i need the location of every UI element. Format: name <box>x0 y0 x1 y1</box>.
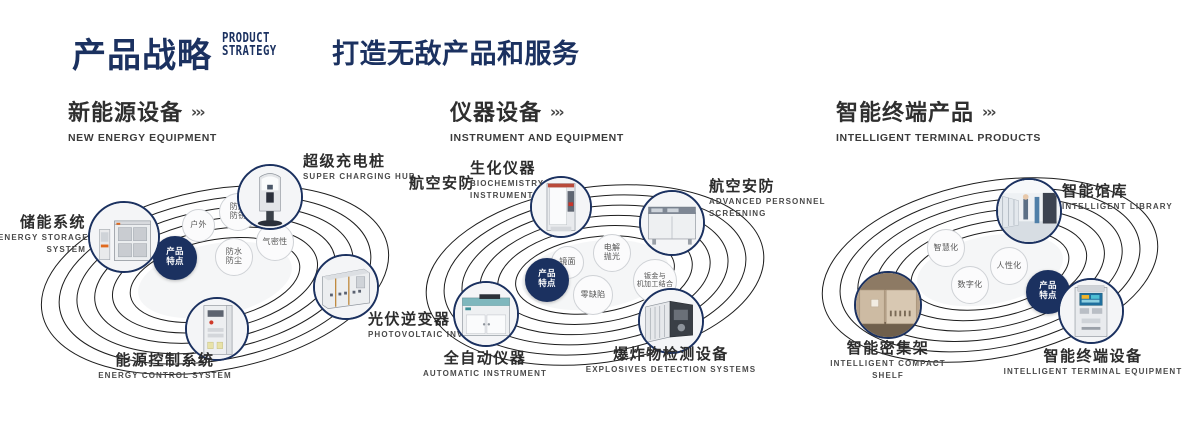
feature-bubble-text: 防水防尘 <box>226 248 243 266</box>
caption-aviation-security-left: 航空安防 <box>409 175 475 192</box>
section-subtitle-instrument: INSTRUMENT AND EQUIPMENT <box>450 132 624 144</box>
center-bubble-new-energy: 产品特点 <box>153 236 197 280</box>
feature-bubble-line2: 抛光 <box>604 252 621 261</box>
section-title-new-energy-text: 新能源设备 <box>68 101 183 126</box>
feature-bubble-line2: 机加工结合 <box>637 280 674 288</box>
node-advanced-personnel-screening[interactable] <box>639 190 705 256</box>
feature-bubble-line1: 智慧化 <box>934 243 959 252</box>
center-bubble-text: 产品特点 <box>538 270 556 289</box>
chevron-right-icon: ››› <box>191 103 204 121</box>
caption-en-line1: EXPLOSIVES DETECTION SYSTEMS <box>576 365 766 375</box>
feature-bubble-line2: 防尘 <box>226 256 243 265</box>
product-strategy-infographic: 产品战略 PRODUCT STRATEGY 打造无敌产品和服务 新能源设备›››… <box>0 0 1200 422</box>
caption-cn: 爆炸物检测设备 <box>576 346 766 363</box>
center-bubble-line1: 产品 <box>538 269 556 279</box>
caption-cn: 航空安防 <box>409 175 475 192</box>
caption-intelligent-compact-shelf: 智能密集架 INTELLIGENT COMPACT SHELF <box>798 340 978 381</box>
section-title-instrument-text: 仪器设备 <box>450 101 542 126</box>
section-heading-intelligent-terminal: 智能终端产品››› INTELLIGENT TERMINAL PRODUCTS <box>836 95 1041 144</box>
feature-bubble-text: 零缺陷 <box>581 291 606 300</box>
caption-explosives-detection-systems: 爆炸物检测设备 EXPLOSIVES DETECTION SYSTEMS <box>576 346 766 375</box>
section-title-new-energy: 新能源设备››› <box>68 95 217 127</box>
feature-bubble-new-energy-3: 防水防尘 <box>215 238 253 276</box>
compact-shelf-icon <box>856 273 920 337</box>
center-bubble-line1: 产品 <box>166 247 184 257</box>
cluster-new-energy: 户外 防腐防锈 防水防尘 气密性 产品特点 <box>0 150 420 390</box>
section-title-intelligent-terminal: 智能终端产品››› <box>836 95 1041 127</box>
cluster-intelligent-terminal: 智慧化 数字化 人性化 产品特点 智能馆库 <box>790 150 1200 395</box>
center-bubble-line2: 特点 <box>166 257 184 267</box>
center-bubble-text: 产品特点 <box>166 248 184 267</box>
caption-en-line1: INTELLIGENT COMPACT <box>798 359 978 369</box>
feature-bubble-text: 智慧化 <box>934 244 959 253</box>
feature-bubble-line1: 气密性 <box>263 237 288 246</box>
control-rack-icon <box>187 299 247 359</box>
caption-en-line1: INTELLIGENT TERMINAL EQUIPMENT <box>995 367 1191 377</box>
feature-bubble-text: 钣金与机加工结合 <box>637 273 674 289</box>
feature-bubble-text: 气密性 <box>263 238 288 247</box>
feature-bubble-instrument-2: 电解抛光 <box>593 234 631 272</box>
center-bubble-line2: 特点 <box>538 279 556 289</box>
feature-bubble-text: 数字化 <box>958 281 983 290</box>
node-intelligent-library[interactable] <box>996 178 1062 244</box>
explosives-detector-icon <box>640 290 702 352</box>
feature-bubble-line1: 钣金与 <box>644 272 666 280</box>
node-automatic-instrument[interactable] <box>453 281 519 347</box>
center-bubble-instrument: 产品特点 <box>525 258 569 302</box>
caption-en-line1: ENERGY CONTROL SYSTEM <box>75 371 255 381</box>
caption-cn: 智能终端设备 <box>995 348 1191 365</box>
caption-en-line1: INTELLIGENT LIBRARY <box>1062 202 1173 212</box>
caption-energy-storage-system: 储能系统 ENERGY STORAGE SYSTEM <box>0 214 86 255</box>
page-title-english: PRODUCT STRATEGY <box>222 32 277 58</box>
feature-bubble-intelligent-1: 智慧化 <box>927 229 965 267</box>
pv-inverter-cabinet-icon <box>315 256 377 318</box>
charging-pile-icon <box>239 166 301 228</box>
caption-en-line1: AUTOMATIC INSTRUMENT <box>390 369 580 379</box>
caption-intelligent-terminal-equipment: 智能终端设备 INTELLIGENT TERMINAL EQUIPMENT <box>995 348 1191 377</box>
section-title-instrument: 仪器设备››› <box>450 95 624 127</box>
caption-cn: 生化仪器 <box>470 160 544 177</box>
feature-bubble-intelligent-3: 人性化 <box>990 247 1028 285</box>
node-intelligent-terminal-equipment[interactable] <box>1058 278 1124 344</box>
caption-cn: 智能馆库 <box>1062 183 1173 200</box>
self-service-kiosk-icon <box>1060 280 1122 342</box>
feature-bubble-line1: 户外 <box>190 220 207 229</box>
page-headline: 打造无敌产品和服务 <box>332 32 580 71</box>
feature-bubble-intelligent-2: 数字化 <box>951 266 989 304</box>
center-bubble-line2: 特点 <box>1039 291 1057 301</box>
section-title-intelligent-terminal-text: 智能终端产品 <box>836 101 974 126</box>
feature-bubble-instrument-3: 零缺陷 <box>573 275 613 315</box>
node-intelligent-compact-shelf[interactable] <box>854 271 922 339</box>
feature-bubble-new-energy-1: 户外 <box>182 209 215 242</box>
caption-cn: 智能密集架 <box>798 340 978 357</box>
caption-cn: 储能系统 <box>0 214 86 231</box>
feature-bubble-line1: 零缺陷 <box>581 290 606 299</box>
caption-intelligent-library: 智能馆库 INTELLIGENT LIBRARY <box>1062 183 1173 212</box>
library-archive-room-icon <box>998 180 1060 242</box>
chevron-right-icon: ››› <box>550 103 563 121</box>
caption-automatic-instrument: 全自动仪器 AUTOMATIC INSTRUMENT <box>390 350 580 379</box>
section-heading-instrument: 仪器设备››› INSTRUMENT AND EQUIPMENT <box>450 95 624 144</box>
feature-bubble-line1: 人性化 <box>997 261 1022 270</box>
node-super-charging-hub[interactable] <box>237 164 303 230</box>
center-bubble-text: 产品特点 <box>1039 282 1057 301</box>
caption-en-line2: SHELF <box>798 371 978 381</box>
center-bubble-line1: 产品 <box>1039 281 1057 291</box>
feature-bubble-line1: 防水 <box>226 247 243 256</box>
feature-bubble-text: 人性化 <box>997 262 1022 271</box>
section-heading-new-energy: 新能源设备››› NEW ENERGY EQUIPMENT <box>68 95 217 144</box>
section-subtitle-new-energy: NEW ENERGY EQUIPMENT <box>68 132 217 144</box>
caption-cn: 能源控制系统 <box>75 352 255 369</box>
caption-en-line2: SYSTEM <box>0 245 86 255</box>
caption-cn: 全自动仪器 <box>390 350 580 367</box>
feature-bubble-text: 户外 <box>190 221 207 230</box>
node-energy-storage-system[interactable] <box>88 201 160 273</box>
screening-machine-icon <box>641 192 703 254</box>
section-subtitle-intelligent-terminal: INTELLIGENT TERMINAL PRODUCTS <box>836 132 1041 144</box>
chevron-right-icon: ››› <box>982 103 995 121</box>
cluster-instrument: 镜面 电解抛光 零缺陷 钣金与机加工结合 产品特点 航空安防 <box>395 150 795 390</box>
feature-bubble-text: 电解抛光 <box>604 244 621 262</box>
caption-en-line2: INSTRUMENT <box>470 191 544 201</box>
feature-bubble-line1: 电解 <box>604 243 621 252</box>
feature-bubble-line1: 数字化 <box>958 280 983 289</box>
page-header: 产品战略 PRODUCT STRATEGY 打造无敌产品和服务 <box>0 0 1200 88</box>
energy-storage-cabinet-icon <box>90 203 158 271</box>
caption-en-line1: BIOCHEMISTRY <box>470 179 544 189</box>
page-title-english-line2: STRATEGY <box>222 45 277 58</box>
automatic-instrument-icon <box>455 283 517 345</box>
caption-energy-control-system: 能源控制系统 ENERGY CONTROL SYSTEM <box>75 352 255 381</box>
caption-en-line1: ENERGY STORAGE <box>0 233 86 243</box>
caption-biochemistry-instrument: 生化仪器 BIOCHEMISTRY INSTRUMENT <box>470 160 544 201</box>
page-title: 产品战略 <box>72 28 212 77</box>
